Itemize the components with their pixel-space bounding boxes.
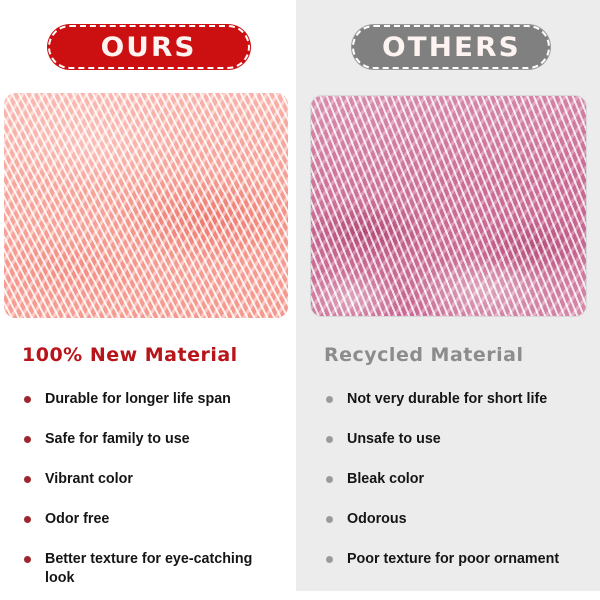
list-item-label: Odorous <box>347 511 407 527</box>
bullet-dot-icon <box>24 556 31 563</box>
comparison-infographic: OURS 100% New Material Durable for longe… <box>0 0 600 600</box>
list-item-label: Not very durable for short life <box>347 391 547 407</box>
list-item: Unsafe to use <box>324 430 592 449</box>
others-product-photo <box>310 95 587 317</box>
list-item: Not very durable for short life <box>324 390 592 409</box>
list-item: Odor free <box>22 510 284 529</box>
ours-product-photo <box>4 93 288 318</box>
list-item-label: Bleak color <box>347 471 424 487</box>
others-photo-gloss <box>311 96 586 316</box>
list-item-label: Poor texture for poor ornament <box>347 551 559 567</box>
list-item: Vibrant color <box>22 470 284 489</box>
bullet-dot-icon <box>326 476 333 483</box>
list-item-label: Better texture for eye-catching look <box>45 551 252 586</box>
others-feature-list: Not very durable for short life Unsafe t… <box>324 390 592 569</box>
bullet-dot-icon <box>326 556 333 563</box>
bullet-dot-icon <box>326 516 333 523</box>
bullet-dot-icon <box>326 396 333 403</box>
list-item: Poor texture for poor ornament <box>324 550 592 569</box>
list-item-label: Safe for family to use <box>45 431 190 447</box>
others-badge-label: OTHERS <box>382 34 521 61</box>
ours-badge-label: OURS <box>101 34 197 61</box>
list-item: Safe for family to use <box>22 430 284 449</box>
others-panel: OTHERS Recycled Material Not very durabl… <box>296 0 600 591</box>
others-heading: Recycled Material <box>324 345 592 366</box>
bullet-dot-icon <box>24 436 31 443</box>
bullet-dot-icon <box>24 476 31 483</box>
list-item: Bleak color <box>324 470 592 489</box>
list-item: Better texture for eye-catching look <box>22 550 284 588</box>
list-item: Durable for longer life span <box>22 390 284 409</box>
list-item: Odorous <box>324 510 592 529</box>
bullet-dot-icon <box>326 436 333 443</box>
ours-photo-gloss <box>4 93 288 318</box>
others-content: Recycled Material Not very durable for s… <box>324 345 592 569</box>
bullet-dot-icon <box>24 396 31 403</box>
bullet-dot-icon <box>24 516 31 523</box>
list-item-label: Vibrant color <box>45 471 133 487</box>
ours-heading: 100% New Material <box>22 345 284 366</box>
ours-feature-list: Durable for longer life span Safe for fa… <box>22 390 284 588</box>
list-item-label: Unsafe to use <box>347 431 441 447</box>
list-item-label: Odor free <box>45 511 109 527</box>
ours-badge: OURS <box>48 25 250 69</box>
list-item-label: Durable for longer life span <box>45 391 231 407</box>
ours-panel: OURS 100% New Material Durable for longe… <box>0 0 296 600</box>
ours-content: 100% New Material Durable for longer lif… <box>22 345 284 588</box>
others-badge: OTHERS <box>352 25 550 69</box>
